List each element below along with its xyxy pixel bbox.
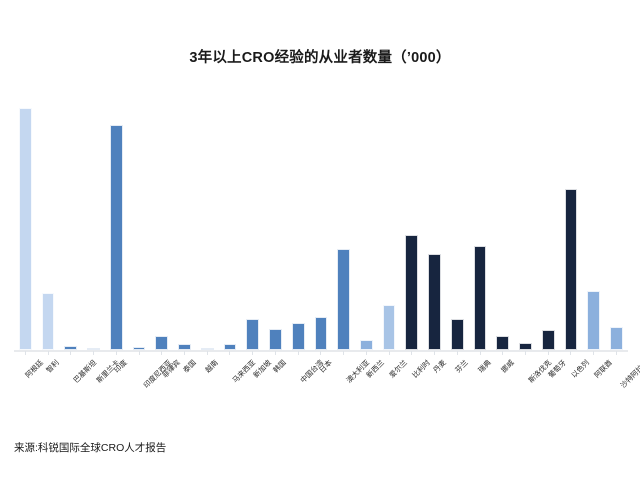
axis-tick bbox=[70, 351, 71, 355]
axis-tick bbox=[502, 351, 503, 355]
x-axis-label: 沙特阿拉伯 bbox=[619, 358, 640, 390]
bar[interactable] bbox=[451, 319, 464, 350]
axis-tick bbox=[93, 351, 94, 355]
plot-area bbox=[14, 100, 628, 350]
bar-slot bbox=[491, 100, 514, 350]
axis-tick bbox=[252, 351, 253, 355]
bar[interactable] bbox=[383, 305, 396, 350]
bar-series bbox=[14, 100, 628, 350]
label-slot: 日本 bbox=[310, 356, 333, 416]
bar-slot bbox=[332, 100, 355, 350]
label-slot: 印度 bbox=[105, 356, 128, 416]
axis-tick bbox=[25, 351, 26, 355]
bar[interactable] bbox=[587, 291, 600, 350]
bar[interactable] bbox=[269, 329, 282, 350]
bar-slot bbox=[400, 100, 423, 350]
label-slot: 印度尼西亚 bbox=[128, 356, 151, 416]
bar-slot bbox=[105, 100, 128, 350]
bar-slot bbox=[514, 100, 537, 350]
label-slot: 巴基斯坦 bbox=[59, 356, 82, 416]
label-slot: 阿根廷 bbox=[14, 356, 37, 416]
bar[interactable] bbox=[155, 336, 168, 350]
bar[interactable] bbox=[610, 327, 623, 350]
axis-tick bbox=[548, 351, 549, 355]
bar[interactable] bbox=[246, 319, 259, 350]
bar[interactable] bbox=[42, 293, 55, 350]
bar[interactable] bbox=[428, 254, 441, 350]
bar-slot bbox=[241, 100, 264, 350]
bar-slot bbox=[196, 100, 219, 350]
bar-slot bbox=[605, 100, 628, 350]
bar[interactable] bbox=[315, 317, 328, 350]
bar-slot bbox=[355, 100, 378, 350]
x-axis-labels: 阿根廷智利巴基斯坦斯里兰卡印度印度尼西亚菲律宾泰国越南马来西亚新加坡韩国中国台湾… bbox=[14, 356, 628, 416]
axis-tick bbox=[366, 351, 367, 355]
label-slot: 沙特阿拉伯 bbox=[605, 356, 628, 416]
axis-tick bbox=[229, 351, 230, 355]
chart-title: 3年以上CRO经验的从业者数量（’000） bbox=[0, 46, 640, 67]
bar-slot bbox=[560, 100, 583, 350]
axis-tick bbox=[593, 351, 594, 355]
label-slot: 泰国 bbox=[173, 356, 196, 416]
bar[interactable] bbox=[19, 108, 32, 350]
axis-tick bbox=[616, 351, 617, 355]
label-slot: 智利 bbox=[37, 356, 60, 416]
axis-tick bbox=[320, 351, 321, 355]
bar-slot bbox=[582, 100, 605, 350]
bar-slot bbox=[378, 100, 401, 350]
bar[interactable] bbox=[110, 125, 123, 350]
bar-slot bbox=[537, 100, 560, 350]
label-slot: 以色列 bbox=[560, 356, 583, 416]
axis-tick bbox=[298, 351, 299, 355]
label-slot: 丹麦 bbox=[423, 356, 446, 416]
bar-slot bbox=[59, 100, 82, 350]
axis-tick bbox=[184, 351, 185, 355]
label-slot: 新西兰 bbox=[355, 356, 378, 416]
bar-slot bbox=[37, 100, 60, 350]
axis-tick bbox=[161, 351, 162, 355]
bar-slot bbox=[423, 100, 446, 350]
axis-tick bbox=[389, 351, 390, 355]
axis-tick bbox=[139, 351, 140, 355]
label-slot: 马来西亚 bbox=[219, 356, 242, 416]
bar[interactable] bbox=[405, 235, 418, 350]
label-slot: 菲律宾 bbox=[150, 356, 173, 416]
axis-tick bbox=[116, 351, 117, 355]
bar[interactable] bbox=[542, 330, 555, 350]
bar-slot bbox=[128, 100, 151, 350]
bar-slot bbox=[150, 100, 173, 350]
label-slot: 斯洛伐克 bbox=[514, 356, 537, 416]
bar-slot bbox=[287, 100, 310, 350]
bar-slot bbox=[264, 100, 287, 350]
bar-slot bbox=[219, 100, 242, 350]
label-slot: 比利时 bbox=[400, 356, 423, 416]
axis-tick bbox=[525, 351, 526, 355]
bar-slot bbox=[82, 100, 105, 350]
axis-tick bbox=[434, 351, 435, 355]
axis-tick bbox=[411, 351, 412, 355]
axis-tick bbox=[207, 351, 208, 355]
axis-tick bbox=[480, 351, 481, 355]
bar-slot bbox=[310, 100, 333, 350]
label-slot: 葡萄牙 bbox=[537, 356, 560, 416]
label-slot: 芬兰 bbox=[446, 356, 469, 416]
bar[interactable] bbox=[565, 189, 578, 350]
label-slot: 爱尔兰 bbox=[378, 356, 401, 416]
chart-container: 3年以上CRO经验的从业者数量（’000） 阿根廷智利巴基斯坦斯里兰卡印度印度尼… bbox=[0, 0, 640, 481]
bar[interactable] bbox=[519, 343, 532, 350]
bar[interactable] bbox=[496, 336, 509, 350]
bar-slot bbox=[446, 100, 469, 350]
label-slot: 斯里兰卡 bbox=[82, 356, 105, 416]
axis-tick bbox=[570, 351, 571, 355]
bar-slot bbox=[173, 100, 196, 350]
label-slot: 挪威 bbox=[491, 356, 514, 416]
label-slot: 越南 bbox=[196, 356, 219, 416]
axis-tick bbox=[343, 351, 344, 355]
label-slot: 中国台湾 bbox=[287, 356, 310, 416]
bar[interactable] bbox=[292, 323, 305, 350]
axis-tick bbox=[457, 351, 458, 355]
label-slot: 澳大利亚 bbox=[332, 356, 355, 416]
bar-slot bbox=[14, 100, 37, 350]
bar[interactable] bbox=[337, 249, 350, 350]
axis-tick bbox=[275, 351, 276, 355]
bar-slot bbox=[469, 100, 492, 350]
source-note: 来源:科锐国际全球CRO人才报告 bbox=[14, 440, 166, 455]
label-slot: 新加坡 bbox=[241, 356, 264, 416]
bar[interactable] bbox=[360, 340, 373, 350]
label-slot: 韩国 bbox=[264, 356, 287, 416]
label-slot: 阿联酋 bbox=[582, 356, 605, 416]
bar[interactable] bbox=[474, 246, 487, 350]
label-slot: 瑞典 bbox=[469, 356, 492, 416]
axis-tick bbox=[48, 351, 49, 355]
